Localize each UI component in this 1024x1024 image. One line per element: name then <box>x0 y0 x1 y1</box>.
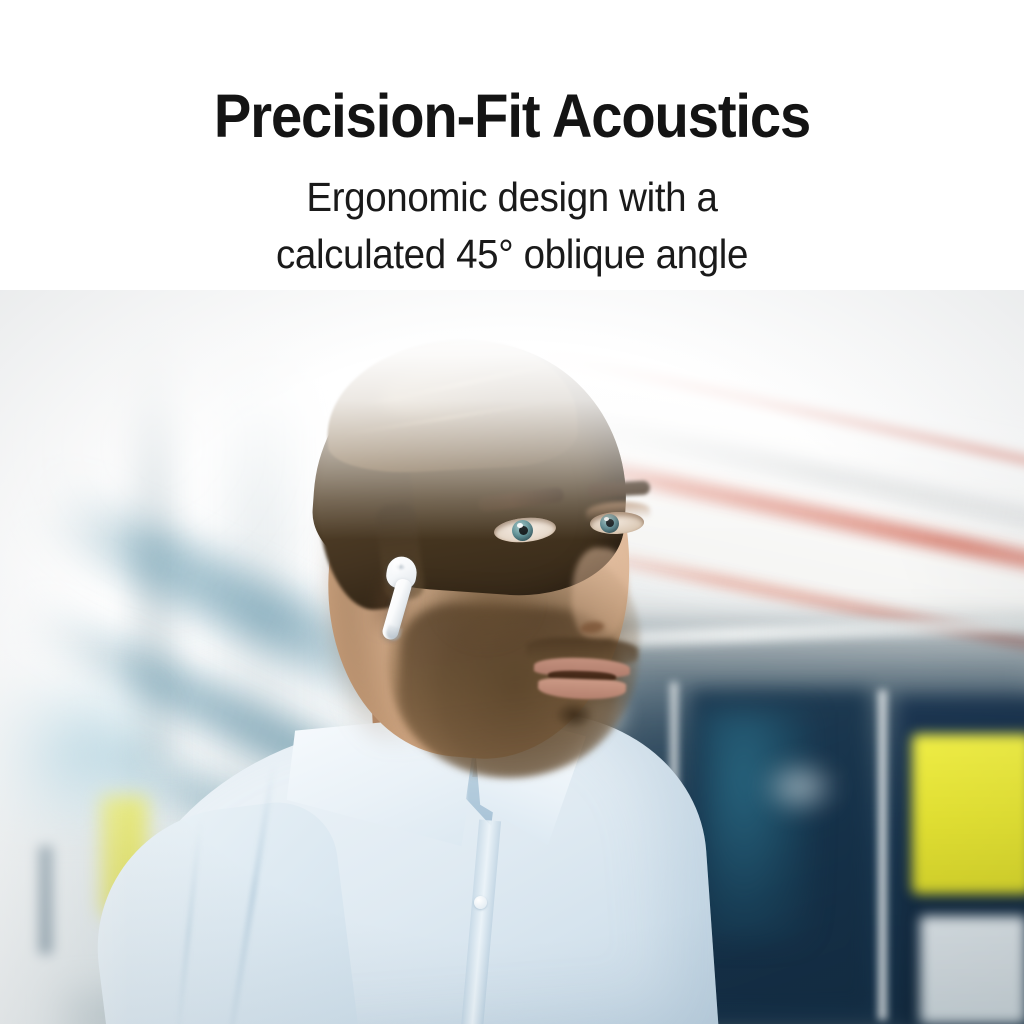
page-subtitle: Ergonomic design with a calculated 45° o… <box>31 147 994 284</box>
headline-block: Precision-Fit Acoustics Ergonomic design… <box>0 0 1024 284</box>
page-subtitle-line-2: calculated 45° oblique angle <box>31 226 994 283</box>
page-title: Precision-Fit Acoustics <box>41 0 983 147</box>
soul-patch <box>556 702 592 728</box>
product-banner: Precision-Fit Acoustics Ergonomic design… <box>0 0 1024 1024</box>
page-subtitle-line-1: Ergonomic design with a <box>31 169 994 226</box>
photo-top-fade <box>0 290 1024 540</box>
shirt-button <box>474 896 487 909</box>
hero-photo <box>0 290 1024 1024</box>
